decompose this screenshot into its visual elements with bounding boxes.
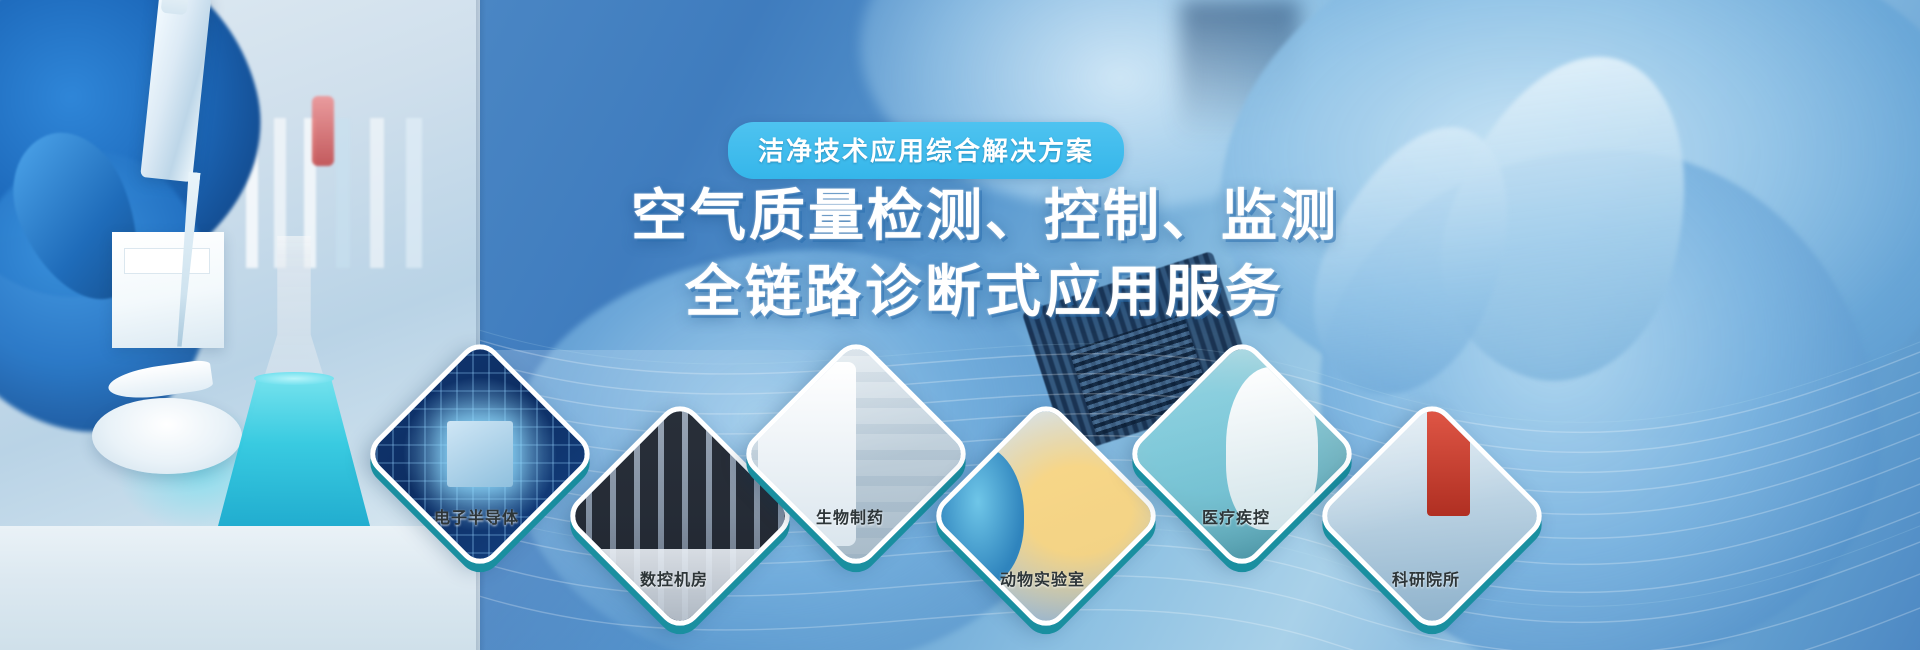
equipment-label [124,248,210,274]
red-sample-tube [312,96,334,166]
flask-blue-liquid [218,376,370,526]
card-label-server-room[interactable]: 数控机房 [640,566,708,590]
card-label-animal-lab[interactable]: 动物实验室 [1000,566,1085,590]
hero-banner: 洁净技术应用综合解决方案 空气质量检测、控制、监测 全链路诊断式应用服务 电子半… [0,0,1920,650]
petri-dish [92,398,242,474]
lab-bench-surface [0,526,480,650]
liquid-surface [254,372,334,385]
card-label-medical[interactable]: 医疗疾控 [1202,504,1270,528]
headline-line-2: 全链路诊断式应用服务 [560,254,1410,330]
tagline-badge: 洁净技术应用综合解决方案 [728,122,1124,179]
card-label-research[interactable]: 科研院所 [1392,566,1460,590]
card-label-semiconductor[interactable]: 电子半导体 [434,504,519,528]
headline-line-1: 空气质量检测、控制、监测 [560,178,1410,254]
lab-photo-left [0,0,480,650]
card-label-biopharma[interactable]: 生物制药 [816,504,884,528]
test-tube-rack [246,118,436,268]
page-title: 空气质量检测、控制、监测 全链路诊断式应用服务 [560,178,1410,330]
